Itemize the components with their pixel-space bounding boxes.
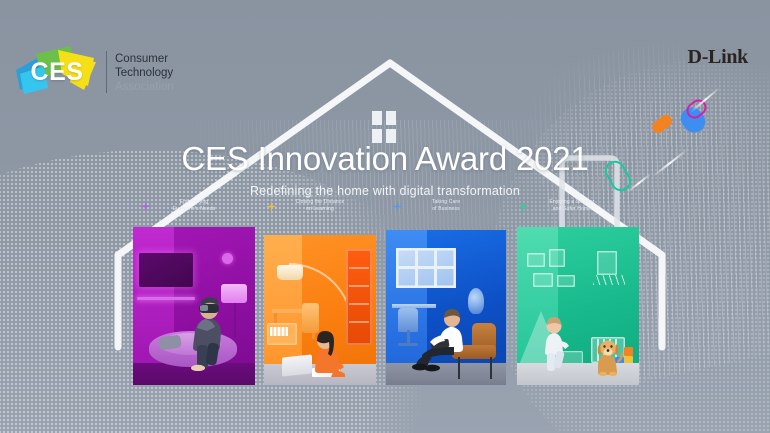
person-toddler xyxy=(541,317,571,375)
room-label-line2: of Business xyxy=(386,206,506,213)
room-label-learning: Closing the Distance on Learning xyxy=(260,199,380,214)
ces-logo-text: CES xyxy=(14,44,100,100)
page-subtitle: Redefining the home with digital transfo… xyxy=(0,184,770,198)
room-scene-learning xyxy=(264,235,376,385)
headline-block: CES Innovation Award 2021 Redefining the… xyxy=(0,140,770,198)
books xyxy=(270,327,288,336)
wall-garland xyxy=(593,275,625,285)
room-label-line2: on Learning xyxy=(260,206,380,213)
toy-block xyxy=(624,347,633,356)
room-label-business: Taking Care of Business xyxy=(386,199,506,214)
wall-tv xyxy=(139,253,193,287)
chair-post xyxy=(407,330,410,344)
desk-chair xyxy=(302,303,319,333)
room-scene-smart-home xyxy=(517,227,639,385)
keyvisual-canvas: CES Consumer Technology Association D-Li… xyxy=(0,0,770,433)
wall-frame xyxy=(597,251,617,275)
dlink-logo: D-Link xyxy=(688,46,748,69)
logo-divider xyxy=(106,51,107,93)
dog-golden-retriever xyxy=(591,337,625,377)
room-label-entertainment: Entertaining Everyone's Needs xyxy=(134,199,254,214)
cta-line-consumer: Consumer xyxy=(115,52,174,66)
floor-lamp-pole xyxy=(234,303,236,337)
sparkle-icon xyxy=(518,201,529,212)
room-label-line2: and Safer Home xyxy=(512,206,632,213)
window xyxy=(396,248,456,288)
room-label-line1: Entertaining xyxy=(134,199,254,206)
room-label-smart-home: Enjoying a Smarter and Safer Home xyxy=(512,199,632,214)
cta-line-technology: Technology xyxy=(115,66,174,80)
person-businessman xyxy=(412,307,476,373)
person-vr-user xyxy=(185,285,231,371)
sparkle-icon xyxy=(392,201,403,212)
sparkle-icon xyxy=(266,201,277,212)
room-label-line1: Enjoying a Smarter xyxy=(512,199,632,206)
arc-lamp-shade xyxy=(277,265,303,280)
cta-wordmark: Consumer Technology Association xyxy=(115,52,174,94)
wall-frame xyxy=(533,273,553,287)
person-student-girl xyxy=(308,330,350,378)
wall-frame xyxy=(527,253,545,267)
room-label-line1: Closing the Distance xyxy=(260,199,380,206)
room-scene-business xyxy=(386,230,506,385)
room-scene-entertainment xyxy=(133,227,255,385)
cta-line-association: Association xyxy=(115,80,174,94)
wall-frame xyxy=(557,275,575,287)
attic-window-icon xyxy=(372,111,396,143)
ces-logo: CES Consumer Technology Association xyxy=(14,44,174,102)
sparkle-icon xyxy=(140,201,151,212)
room-label-line2: Everyone's Needs xyxy=(134,206,254,213)
lounge-chair-leg xyxy=(490,357,493,379)
wall-clock xyxy=(222,253,233,264)
room-label-line1: Taking Care xyxy=(386,199,506,206)
wall-frame xyxy=(549,249,565,267)
